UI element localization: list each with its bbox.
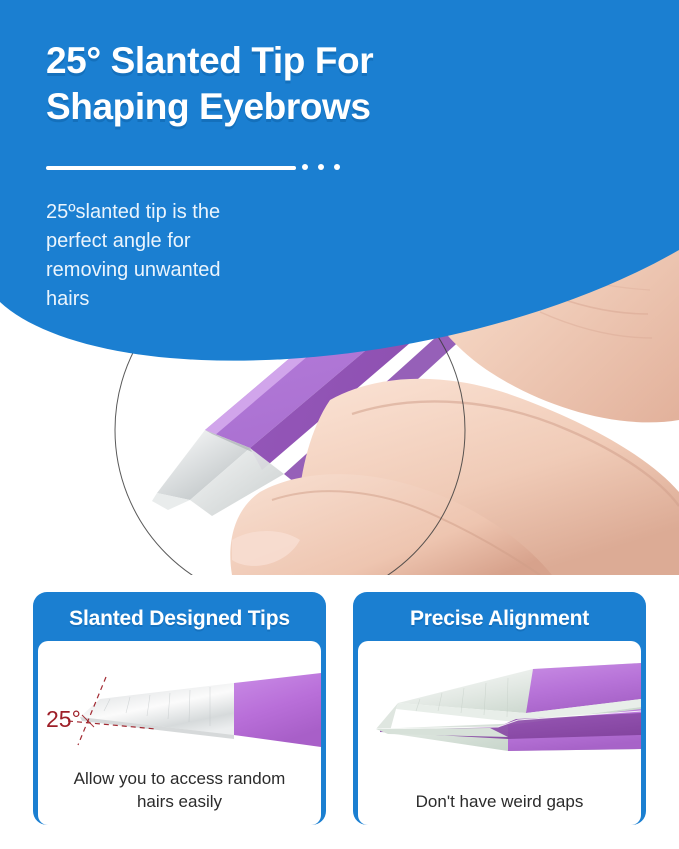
card-caption: Allow you to access random hairs easily [46,767,313,813]
card-title: Slanted Designed Tips [38,597,321,641]
slanted-tip-angle-diagram-icon: 25° [38,641,321,767]
feature-card-precise-alignment: Precise Alignment [353,592,646,825]
aligned-tweezer-tips-diagram-icon [358,641,641,767]
feature-card-slanted-designed-tips: Slanted Designed Tips [33,592,326,825]
card-body: Don't have weird gaps [358,641,641,825]
page-subtitle: 25ºslanted tip is the perfect angle for … [46,198,318,314]
card-title: Precise Alignment [358,597,641,641]
card-body: 25° Allow you to access random hairs eas… [38,641,321,825]
divider-dots [302,164,340,170]
infographic-page: er 25° Slanted Tip For Shaping Eyebrows … [0,0,679,849]
hero-text-block: 25° Slanted Tip For Shaping Eyebrows 25º… [0,0,679,365]
divider-dot-3 [334,164,340,170]
divider-dot-1 [302,164,308,170]
page-title: 25° Slanted Tip For Shaping Eyebrows [46,38,476,130]
divider-dot-2 [318,164,324,170]
card-caption: Don't have weird gaps [366,790,633,813]
feature-cards: Slanted Designed Tips [0,592,679,832]
angle-label: 25° [46,706,81,732]
title-divider [46,166,296,170]
